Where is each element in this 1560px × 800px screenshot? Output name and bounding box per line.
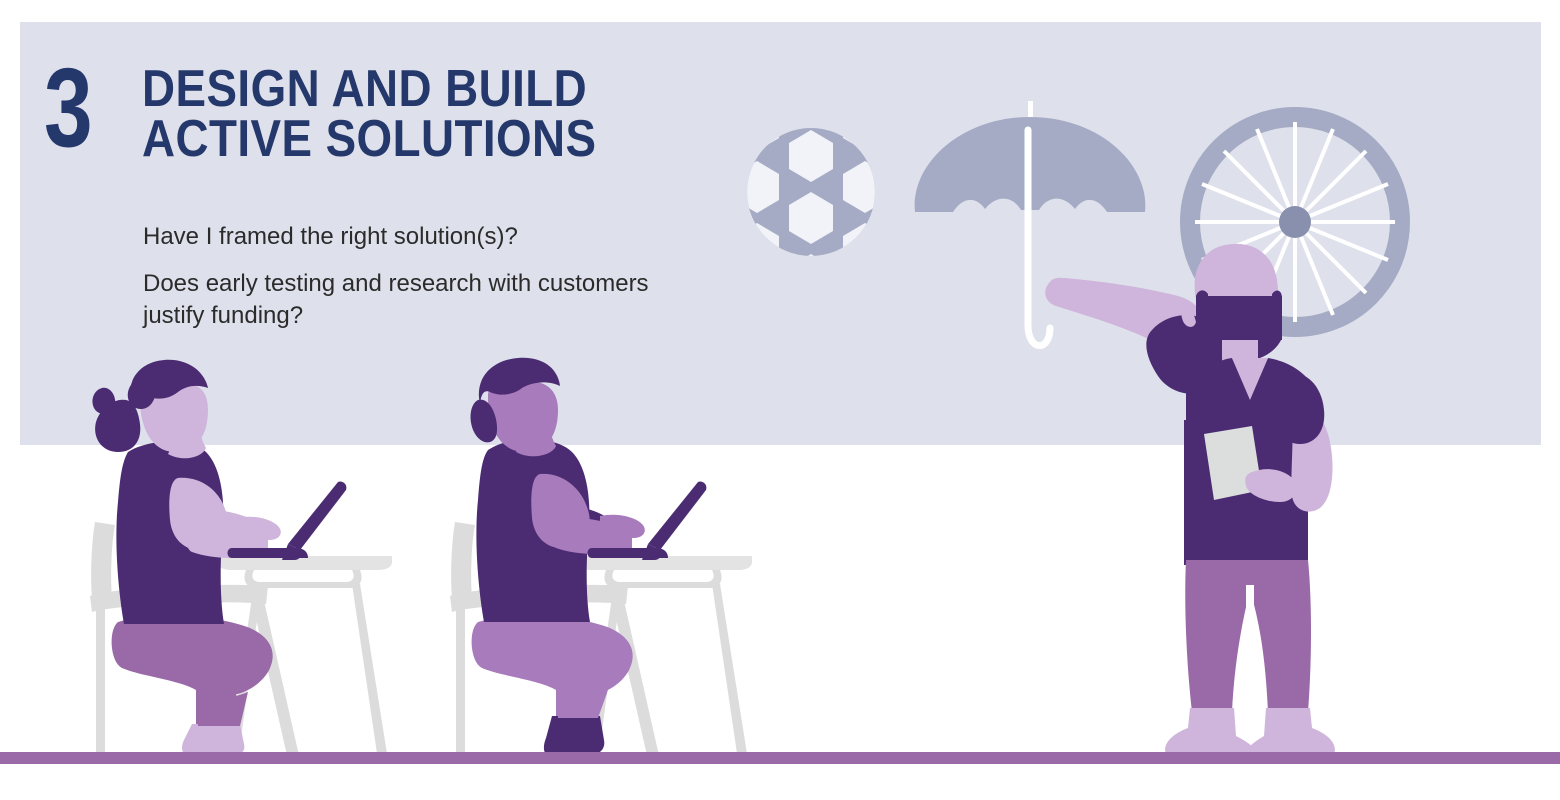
infographic-panel: 3 DESIGN AND BUILD ACTIVE SOLUTIONS Have…	[0, 0, 1560, 800]
headline-line-1: DESIGN AND BUILD	[142, 60, 587, 118]
headline-line-2: ACTIVE SOLUTIONS	[142, 114, 811, 164]
question-1: Have I framed the right solution(s)?	[143, 221, 663, 253]
step-number: 3	[44, 52, 91, 164]
question-2: Does early testing and research with cus…	[143, 268, 663, 332]
text-content: 3 DESIGN AND BUILD ACTIVE SOLUTIONS Have…	[0, 0, 1560, 800]
page-title: DESIGN AND BUILD ACTIVE SOLUTIONS	[142, 64, 811, 165]
